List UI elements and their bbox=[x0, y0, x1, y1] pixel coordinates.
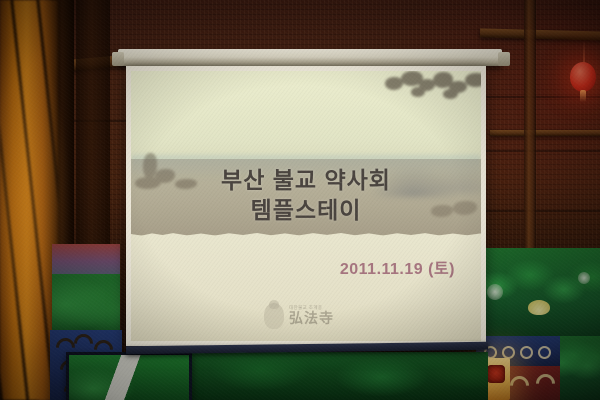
temple-logo: 대한불교 조계종 弘法寺 bbox=[264, 303, 334, 329]
projector-screen[interactable]: 부산 불교 약사회 템플스테이 2011.11.19 (토) 대한불교 조계종 … bbox=[126, 66, 486, 346]
temple-logo-hanja: 弘法寺 bbox=[289, 312, 334, 326]
projector-screen-casing[interactable] bbox=[118, 49, 502, 66]
wall-beam bbox=[490, 130, 600, 136]
projected-slide: 부산 불교 약사회 템플스테이 2011.11.19 (토) 대한불교 조계종 … bbox=[131, 71, 481, 341]
painted-guardian-face bbox=[487, 365, 505, 383]
lotus-flower bbox=[528, 300, 550, 315]
lantern-tassel bbox=[580, 90, 586, 102]
slide-title-line-2: 템플스테이 bbox=[131, 195, 481, 225]
photo-scene: 부산 불교 약사회 템플스테이 2011.11.19 (토) 대한불교 조계종 … bbox=[0, 0, 600, 400]
screen-casing-end-cap bbox=[112, 52, 124, 66]
mural-moon bbox=[487, 284, 503, 300]
screen-casing-end-cap bbox=[498, 52, 510, 66]
red-paper-lantern bbox=[570, 62, 596, 92]
temple-logo-text: 대한불교 조계종 弘法寺 bbox=[289, 306, 334, 327]
photo-tree-branch bbox=[381, 71, 481, 115]
framed-landscape-painting bbox=[66, 352, 192, 400]
painting-content bbox=[69, 355, 189, 400]
mural-moon bbox=[578, 272, 590, 284]
lotus-leaf-mural bbox=[556, 336, 600, 400]
slide-title-line-1: 부산 불교 약사회 bbox=[131, 165, 481, 195]
slide-date: 2011.11.19 (토) bbox=[131, 255, 455, 279]
temple-logo-subtitle: 대한불교 조계종 bbox=[289, 306, 334, 311]
buddha-silhouette-icon bbox=[264, 303, 284, 329]
slide-title: 부산 불교 약사회 템플스테이 bbox=[131, 165, 481, 225]
wooden-post bbox=[524, 0, 536, 250]
